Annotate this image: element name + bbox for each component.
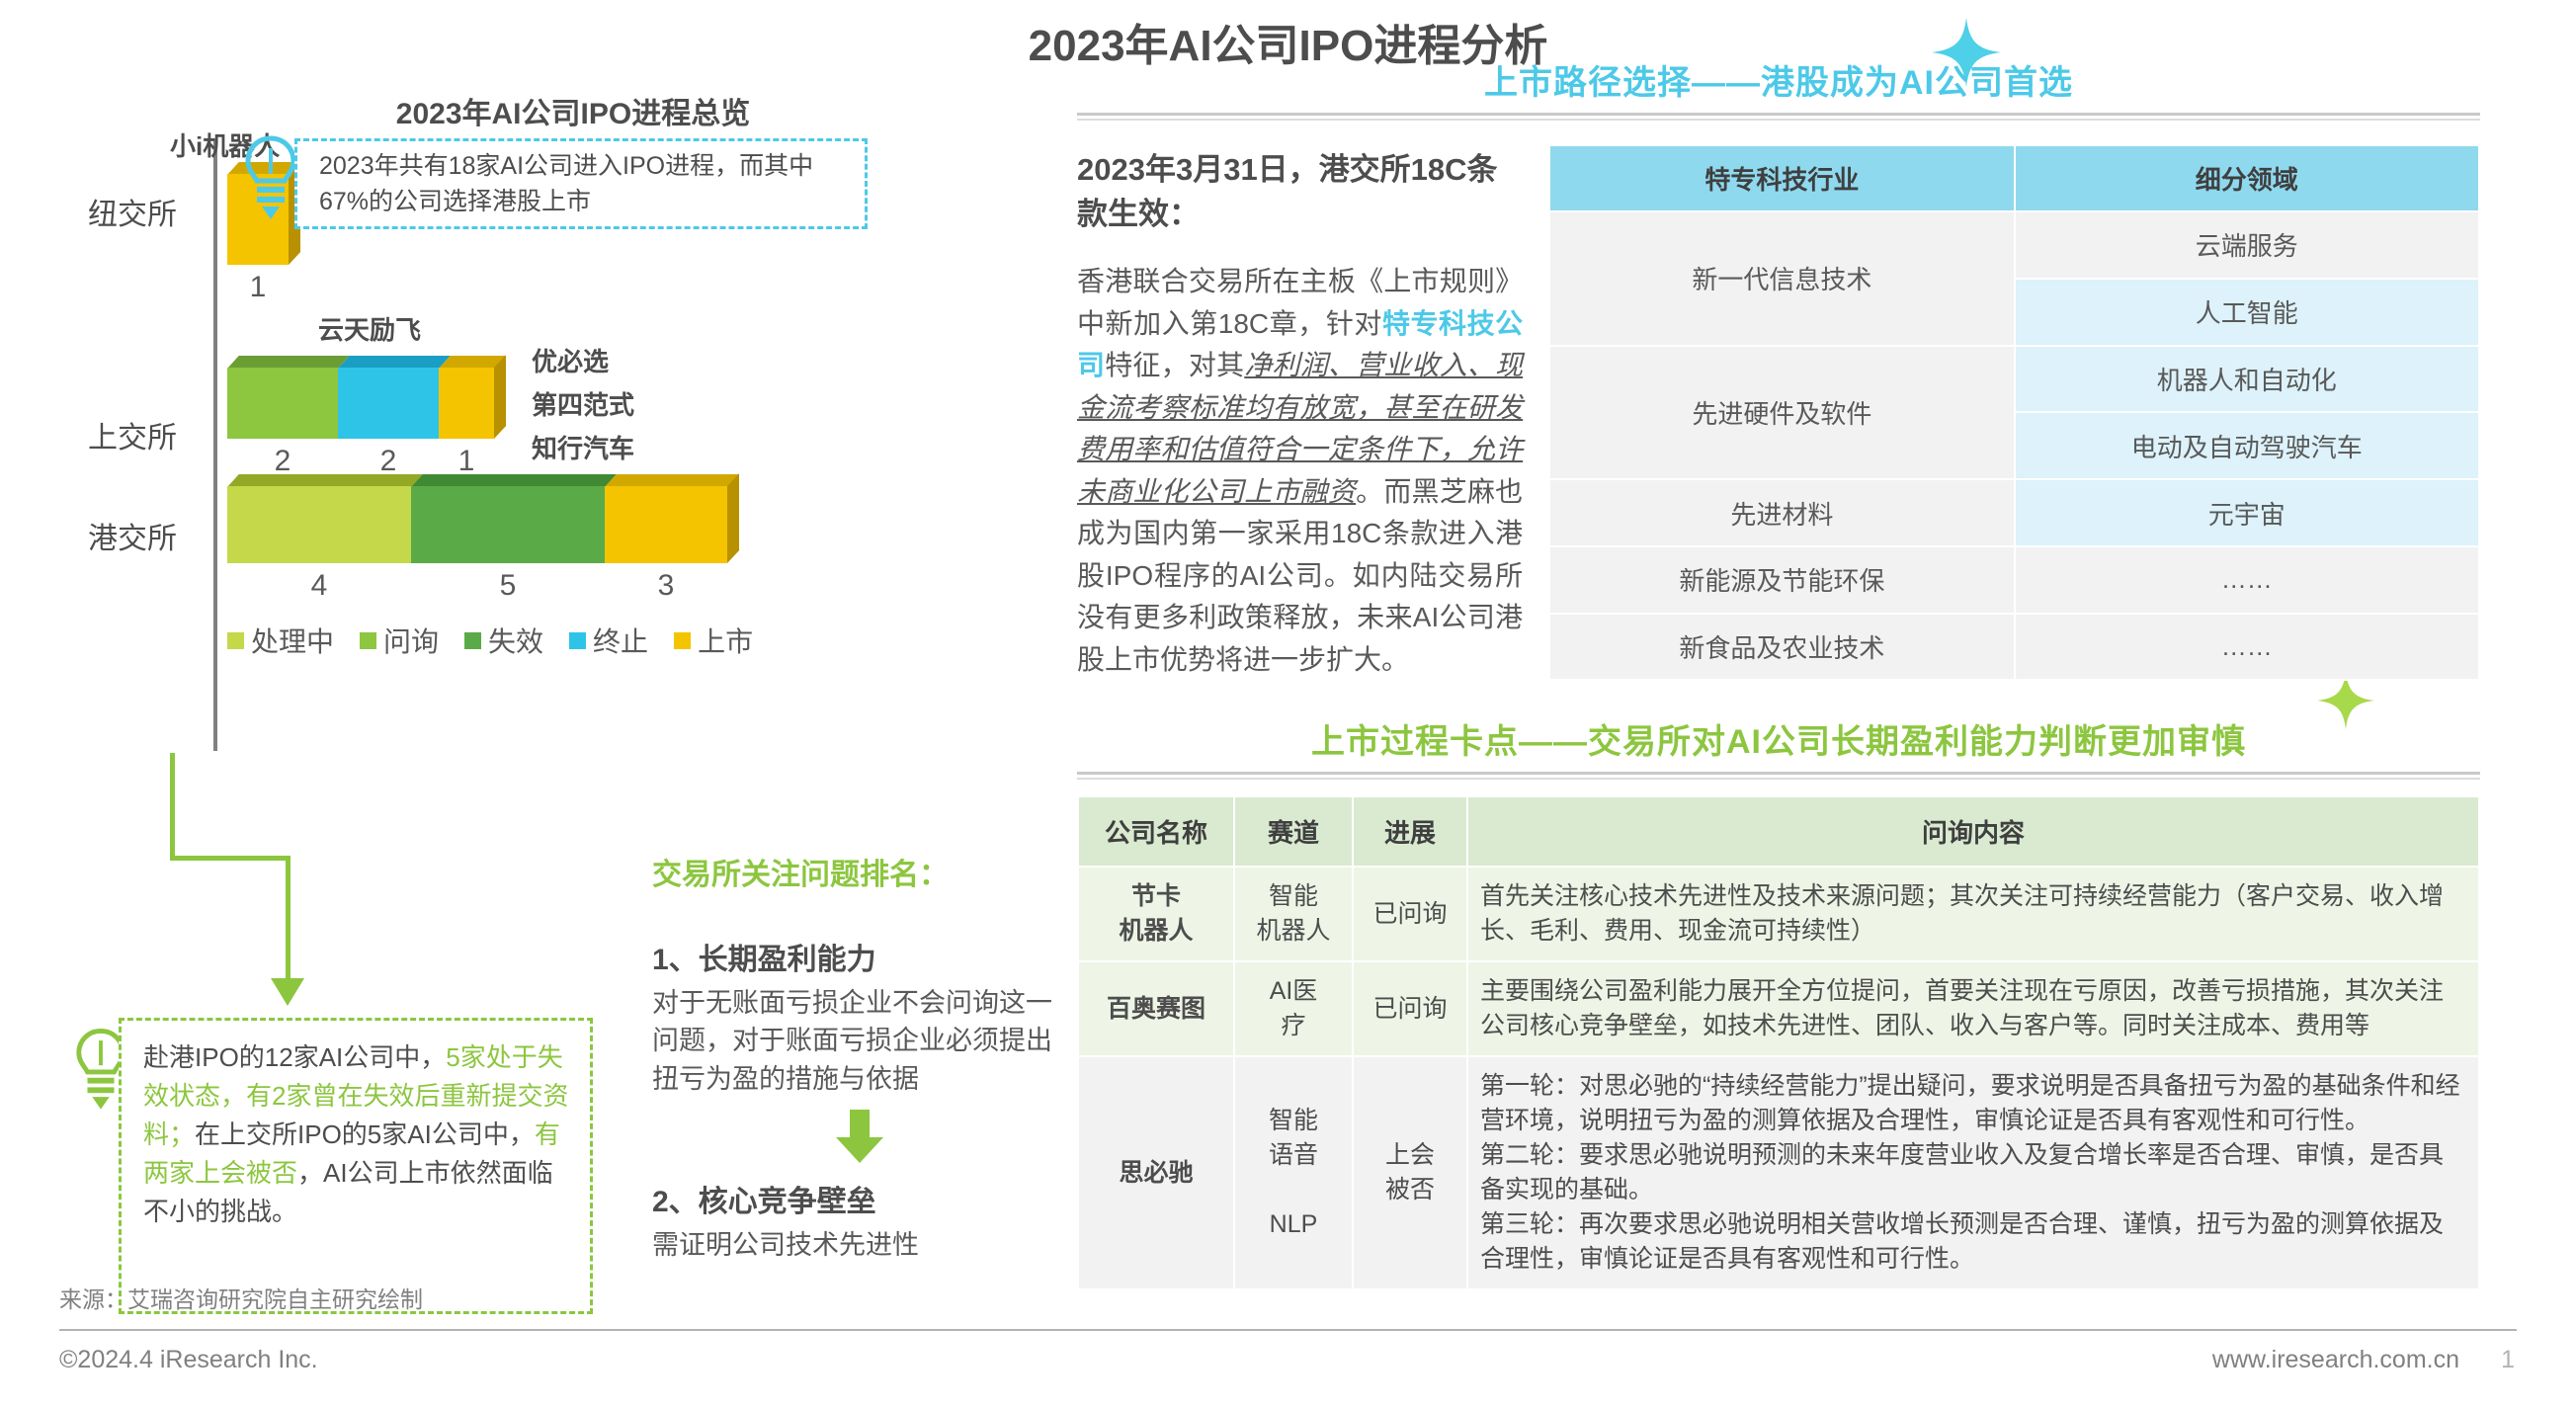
cell-field-4-0: …… bbox=[2015, 614, 2479, 681]
cell-company-2: 思必驰 bbox=[1078, 1056, 1234, 1289]
th-status: 进展 bbox=[1353, 796, 1467, 867]
table-header-row: 特专科技行业 细分领域 bbox=[1549, 145, 2479, 211]
section-divider-2b bbox=[1077, 778, 2480, 780]
legend-label-listed: 上市 bbox=[698, 621, 753, 660]
insight-note-box: 赴港IPO的12家AI公司中，5家处于失效状态，有2家曾在失效后重新提交资料；在… bbox=[119, 1018, 593, 1314]
bar-gang-lapsed bbox=[411, 474, 605, 563]
table-row: 节卡 机器人 智能 机器人 已问询 首先关注核心技术先进性及技术来源问题；其次关… bbox=[1078, 867, 2479, 961]
footer-divider bbox=[59, 1329, 2517, 1331]
chart-annotation-4paradigm: 第四范式 bbox=[532, 385, 634, 422]
legend-swatch-processing bbox=[227, 632, 244, 649]
footer-copyright: ©2024.4 iResearch Inc. bbox=[59, 1346, 318, 1374]
table-row: 新能源及节能环保 …… bbox=[1549, 546, 2479, 614]
source-note: 来源：艾瑞咨询研究院自主研究绘制 bbox=[59, 1281, 423, 1314]
legend-swatch-inquiry bbox=[360, 632, 376, 649]
ranking-item-2-body: 需证明公司技术先进性 bbox=[652, 1226, 1067, 1264]
table-row: 先进材料 元宇宙 bbox=[1549, 479, 2479, 546]
chart-legend: 处理中 问询 失效 终止 上市 bbox=[227, 621, 753, 660]
legend-item-processing: 处理中 bbox=[227, 621, 334, 660]
th-company: 公司名称 bbox=[1078, 796, 1234, 867]
th-industry: 特专科技行业 bbox=[1549, 145, 2014, 211]
cell-industry-0: 新一代信息技术 bbox=[1549, 211, 2014, 346]
bar-shang-inquiry bbox=[227, 356, 338, 439]
footer-page-number: 1 bbox=[2501, 1346, 2515, 1374]
cell-track-2: 智能 语音 NLP bbox=[1234, 1056, 1353, 1289]
callout-overview: 2023年共有18家AI公司进入IPO进程，而其中67%的公司选择港股上市 bbox=[294, 138, 868, 229]
legend-swatch-listed bbox=[674, 632, 691, 649]
chart-annotation-zhixing: 知行汽车 bbox=[532, 429, 634, 465]
cell-industry-2: 先进材料 bbox=[1549, 479, 2014, 546]
bar-shang-terminated bbox=[338, 356, 439, 439]
cell-status-1: 已问询 bbox=[1353, 961, 1467, 1056]
th-track: 赛道 bbox=[1234, 796, 1353, 867]
legend-item-lapsed: 失效 bbox=[464, 621, 543, 660]
panel-18c-title: 2023年3月31日，港交所18C条款生效： bbox=[1077, 144, 1523, 233]
cell-industry-3: 新能源及节能环保 bbox=[1549, 546, 2014, 614]
panel-18c: 2023年3月31日，港交所18C条款生效： 香港联合交易所在主板《上市规则》中… bbox=[1077, 144, 2480, 681]
cell-field-0-0: 云端服务 bbox=[2015, 211, 2479, 279]
bar-shang-listed bbox=[439, 356, 494, 439]
chart-value-niu-0: 1 bbox=[227, 271, 289, 304]
cell-company-0: 节卡 机器人 bbox=[1078, 867, 1234, 961]
section-divider-2 bbox=[1077, 772, 2480, 775]
ranking-title: 交易所关注问题排名： bbox=[652, 850, 1067, 893]
chart-cat-label-1: 上交所 bbox=[59, 413, 206, 456]
tech-industry-table: 特专科技行业 细分领域 新一代信息技术 云端服务 人工智能 先进硬件及软件 机器… bbox=[1548, 144, 2480, 681]
exchange-concerns-ranking: 交易所关注问题排名： 1、长期盈利能力 对于无账面亏损企业不会问询这一问题，对于… bbox=[652, 850, 1067, 1264]
table-row: 百奥赛图 AI医 疗 已问询 主要围绕公司盈利能力展开全方位提问，首要关注现在亏… bbox=[1078, 961, 2479, 1056]
note-text-1: 赴港IPO的12家AI公司中， bbox=[143, 1042, 446, 1072]
connector-line-vertical-2 bbox=[286, 856, 291, 984]
legend-swatch-lapsed bbox=[464, 632, 481, 649]
legend-label-terminated: 终止 bbox=[593, 621, 648, 660]
ranking-item-1-heading: 1、长期盈利能力 bbox=[652, 935, 1067, 978]
section-divider-1 bbox=[1077, 113, 2480, 116]
p18c-seg-3: 特征，对其 bbox=[1105, 350, 1244, 380]
cell-content-2: 第一轮：对思必驰的“持续经营能力”提出疑问，要求说明是否具备扭亏为盈的基础条件和… bbox=[1467, 1056, 2479, 1289]
table-row: 先进硬件及软件 机器人和自动化 bbox=[1549, 346, 2479, 413]
chart-annotation-yuntian: 云天励飞 bbox=[318, 310, 421, 347]
cell-track-0: 智能 机器人 bbox=[1234, 867, 1353, 961]
cell-industry-4: 新食品及农业技术 bbox=[1549, 614, 2014, 681]
cell-status-2: 上会 被否 bbox=[1353, 1056, 1467, 1289]
section-heading-listing-path: 上市路径选择——港股成为AI公司首选 bbox=[1077, 55, 2480, 104]
chart-value-shang-1: 2 bbox=[338, 445, 439, 478]
cell-content-1: 主要围绕公司盈利能力展开全方位提问，首要关注现在亏原因，改善亏损措施，其次关注公… bbox=[1467, 961, 2479, 1056]
connector-line-horizontal bbox=[170, 856, 291, 861]
ipo-overview-chart: 纽交所 上交所 港交所 小i机器人 1 云天励飞 bbox=[59, 126, 1067, 759]
legend-label-inquiry: 问询 bbox=[383, 621, 439, 660]
panel-18c-text: 2023年3月31日，港交所18C条款生效： 香港联合交易所在主板《上市规则》中… bbox=[1077, 144, 1523, 681]
arrow-down-icon bbox=[832, 1108, 887, 1165]
legend-item-terminated: 终止 bbox=[569, 621, 648, 660]
inquiry-table: 公司名称 赛道 进展 问询内容 节卡 机器人 智能 机器人 已问询 首先关注核心… bbox=[1077, 795, 2480, 1290]
ranking-item-1-body: 对于无账面亏损企业不会问询这一问题，对于账面亏损企业必须提出扭亏为盈的措施与依据 bbox=[652, 984, 1067, 1098]
table-row: 思必驰 智能 语音 NLP 上会 被否 第一轮：对思必驰的“持续经营能力”提出疑… bbox=[1078, 1056, 2479, 1289]
chart-value-shang-2: 1 bbox=[439, 445, 494, 478]
legend-label-lapsed: 失效 bbox=[488, 621, 543, 660]
connector-arrowhead bbox=[271, 978, 304, 1006]
table-row: 新食品及农业技术 …… bbox=[1549, 614, 2479, 681]
down-arrow-wrap bbox=[652, 1108, 1067, 1165]
legend-item-listed: 上市 bbox=[674, 621, 753, 660]
chart-value-gang-0: 4 bbox=[227, 569, 411, 603]
table-row: 新一代信息技术 云端服务 bbox=[1549, 211, 2479, 279]
chart-cat-label-2: 港交所 bbox=[59, 514, 206, 557]
cell-field-1-0: 机器人和自动化 bbox=[2015, 346, 2479, 413]
bar-gang-listed bbox=[605, 474, 727, 563]
cell-field-3-0: …… bbox=[2015, 546, 2479, 614]
legend-item-inquiry: 问询 bbox=[360, 621, 439, 660]
bar-gang-processing bbox=[227, 474, 411, 563]
ranking-item-2-heading: 2、核心竞争壁垒 bbox=[652, 1177, 1067, 1220]
left-column: 2023年AI公司IPO进程总览 纽交所 上交所 港交所 小i机器人 1 云天励… bbox=[59, 89, 1067, 1304]
section-heading-listing-blockers: 上市过程卡点——交易所对AI公司长期盈利能力判断更加审慎 bbox=[1077, 714, 2480, 763]
chart-annotation-ubtech: 优必选 bbox=[532, 342, 609, 378]
legend-swatch-terminated bbox=[569, 632, 586, 649]
cell-field-1-1: 电动及自动驾驶汽车 bbox=[2015, 412, 2479, 479]
lightbulb-icon-cyan bbox=[242, 134, 299, 225]
chart-value-gang-2: 3 bbox=[605, 569, 727, 603]
panel-18c-body: 香港联合交易所在主板《上市规则》中新加入第18C章，针对特专科技公司特征，对其净… bbox=[1077, 261, 1523, 681]
cell-industry-1: 先进硬件及软件 bbox=[1549, 346, 2014, 480]
section-divider-1b bbox=[1077, 119, 2480, 121]
right-column: 上市路径选择——港股成为AI公司首选 2023年3月31日，港交所18C条款生效… bbox=[1077, 55, 2480, 1290]
cell-content-0: 首先关注核心技术先进性及技术来源问题；其次关注可持续经营能力（客户交易、收入增长… bbox=[1467, 867, 2479, 961]
slide-page: 2023年AI公司IPO进程分析 2023年AI公司IPO进程总览 纽交所 上交… bbox=[0, 0, 2576, 1409]
chart-cat-label-0: 纽交所 bbox=[59, 190, 206, 233]
cell-field-0-1: 人工智能 bbox=[2015, 279, 2479, 346]
table-header-row: 公司名称 赛道 进展 问询内容 bbox=[1078, 796, 2479, 867]
legend-label-processing: 处理中 bbox=[251, 621, 334, 660]
chart-value-gang-1: 5 bbox=[411, 569, 605, 603]
cell-status-0: 已问询 bbox=[1353, 867, 1467, 961]
chart-value-shang-0: 2 bbox=[227, 445, 338, 478]
footer-website[interactable]: www.iresearch.com.cn bbox=[2212, 1346, 2459, 1374]
cell-company-1: 百奥赛图 bbox=[1078, 961, 1234, 1056]
cell-track-1: AI医 疗 bbox=[1234, 961, 1353, 1056]
note-text-2: 在上交所IPO的5家AI公司中， bbox=[195, 1119, 535, 1149]
th-field: 细分领域 bbox=[2015, 145, 2479, 211]
cell-field-2-0: 元宇宙 bbox=[2015, 479, 2479, 546]
chart-y-axis bbox=[213, 138, 217, 751]
connector-line-vertical-1 bbox=[170, 753, 175, 860]
th-content: 问询内容 bbox=[1467, 796, 2479, 867]
